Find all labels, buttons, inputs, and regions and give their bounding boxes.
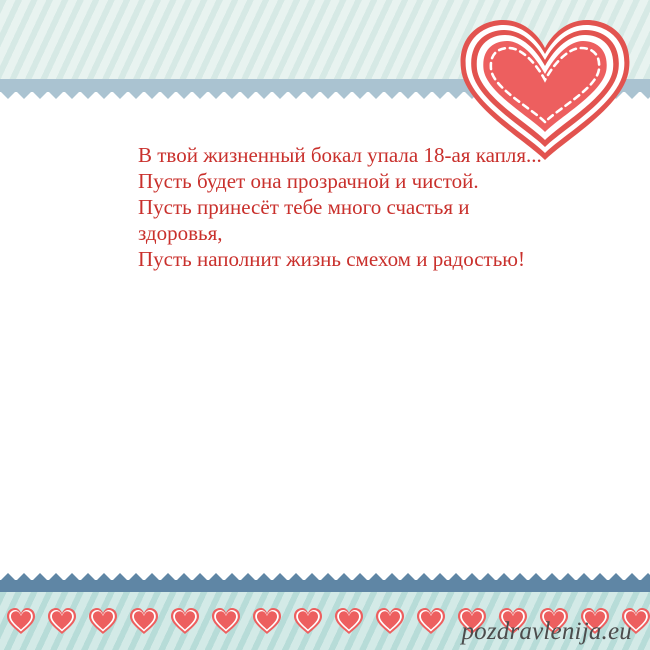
mini-heart-icon (205, 592, 246, 650)
zigzag-tooth (256, 91, 272, 99)
zigzag-tooth (0, 91, 16, 99)
greeting-card: В твой жизненный бокал упала 18-ая капля… (0, 0, 650, 650)
mini-heart-icon (287, 592, 328, 650)
watermark-text: pozdravlenija.eu (461, 618, 632, 646)
zigzag-tooth (16, 91, 32, 99)
zigzag-tooth (640, 91, 650, 99)
zigzag-tooth (384, 91, 400, 99)
zigzag-tooth (144, 91, 160, 99)
zigzag-tooth (64, 91, 80, 99)
bottom-rule-band (0, 580, 650, 592)
zigzag-tooth (304, 91, 320, 99)
zigzag-tooth (352, 91, 368, 99)
mini-heart-icon (369, 592, 410, 650)
zigzag-tooth (192, 91, 208, 99)
zigzag-tooth (208, 91, 224, 99)
zigzag-tooth (416, 91, 432, 99)
zigzag-tooth (368, 91, 384, 99)
zigzag-tooth (48, 91, 64, 99)
zigzag-tooth (128, 91, 144, 99)
mini-heart-icon (410, 592, 451, 650)
mini-heart-icon (328, 592, 369, 650)
mini-heart-icon (246, 592, 287, 650)
zigzag-tooth (224, 91, 240, 99)
mini-heart-icon (0, 592, 41, 650)
zigzag-tooth (240, 91, 256, 99)
zigzag-tooth (176, 91, 192, 99)
mini-heart-icon (164, 592, 205, 650)
zigzag-tooth (320, 91, 336, 99)
zigzag-tooth (112, 91, 128, 99)
zigzag-tooth (160, 91, 176, 99)
zigzag-tooth (80, 91, 96, 99)
zigzag-tooth (336, 91, 352, 99)
zigzag-tooth (288, 91, 304, 99)
zigzag-tooth (432, 91, 448, 99)
mini-heart-icon (82, 592, 123, 650)
mini-heart-icon (41, 592, 82, 650)
zigzag-tooth (400, 91, 416, 99)
zigzag-tooth (32, 91, 48, 99)
zigzag-tooth (272, 91, 288, 99)
mini-heart-icon (123, 592, 164, 650)
zigzag-tooth (96, 91, 112, 99)
greeting-message: В твой жизненный бокал упала 18-ая капля… (138, 142, 558, 272)
bottom-striped-band: pozdravlenija.eu (0, 592, 650, 650)
